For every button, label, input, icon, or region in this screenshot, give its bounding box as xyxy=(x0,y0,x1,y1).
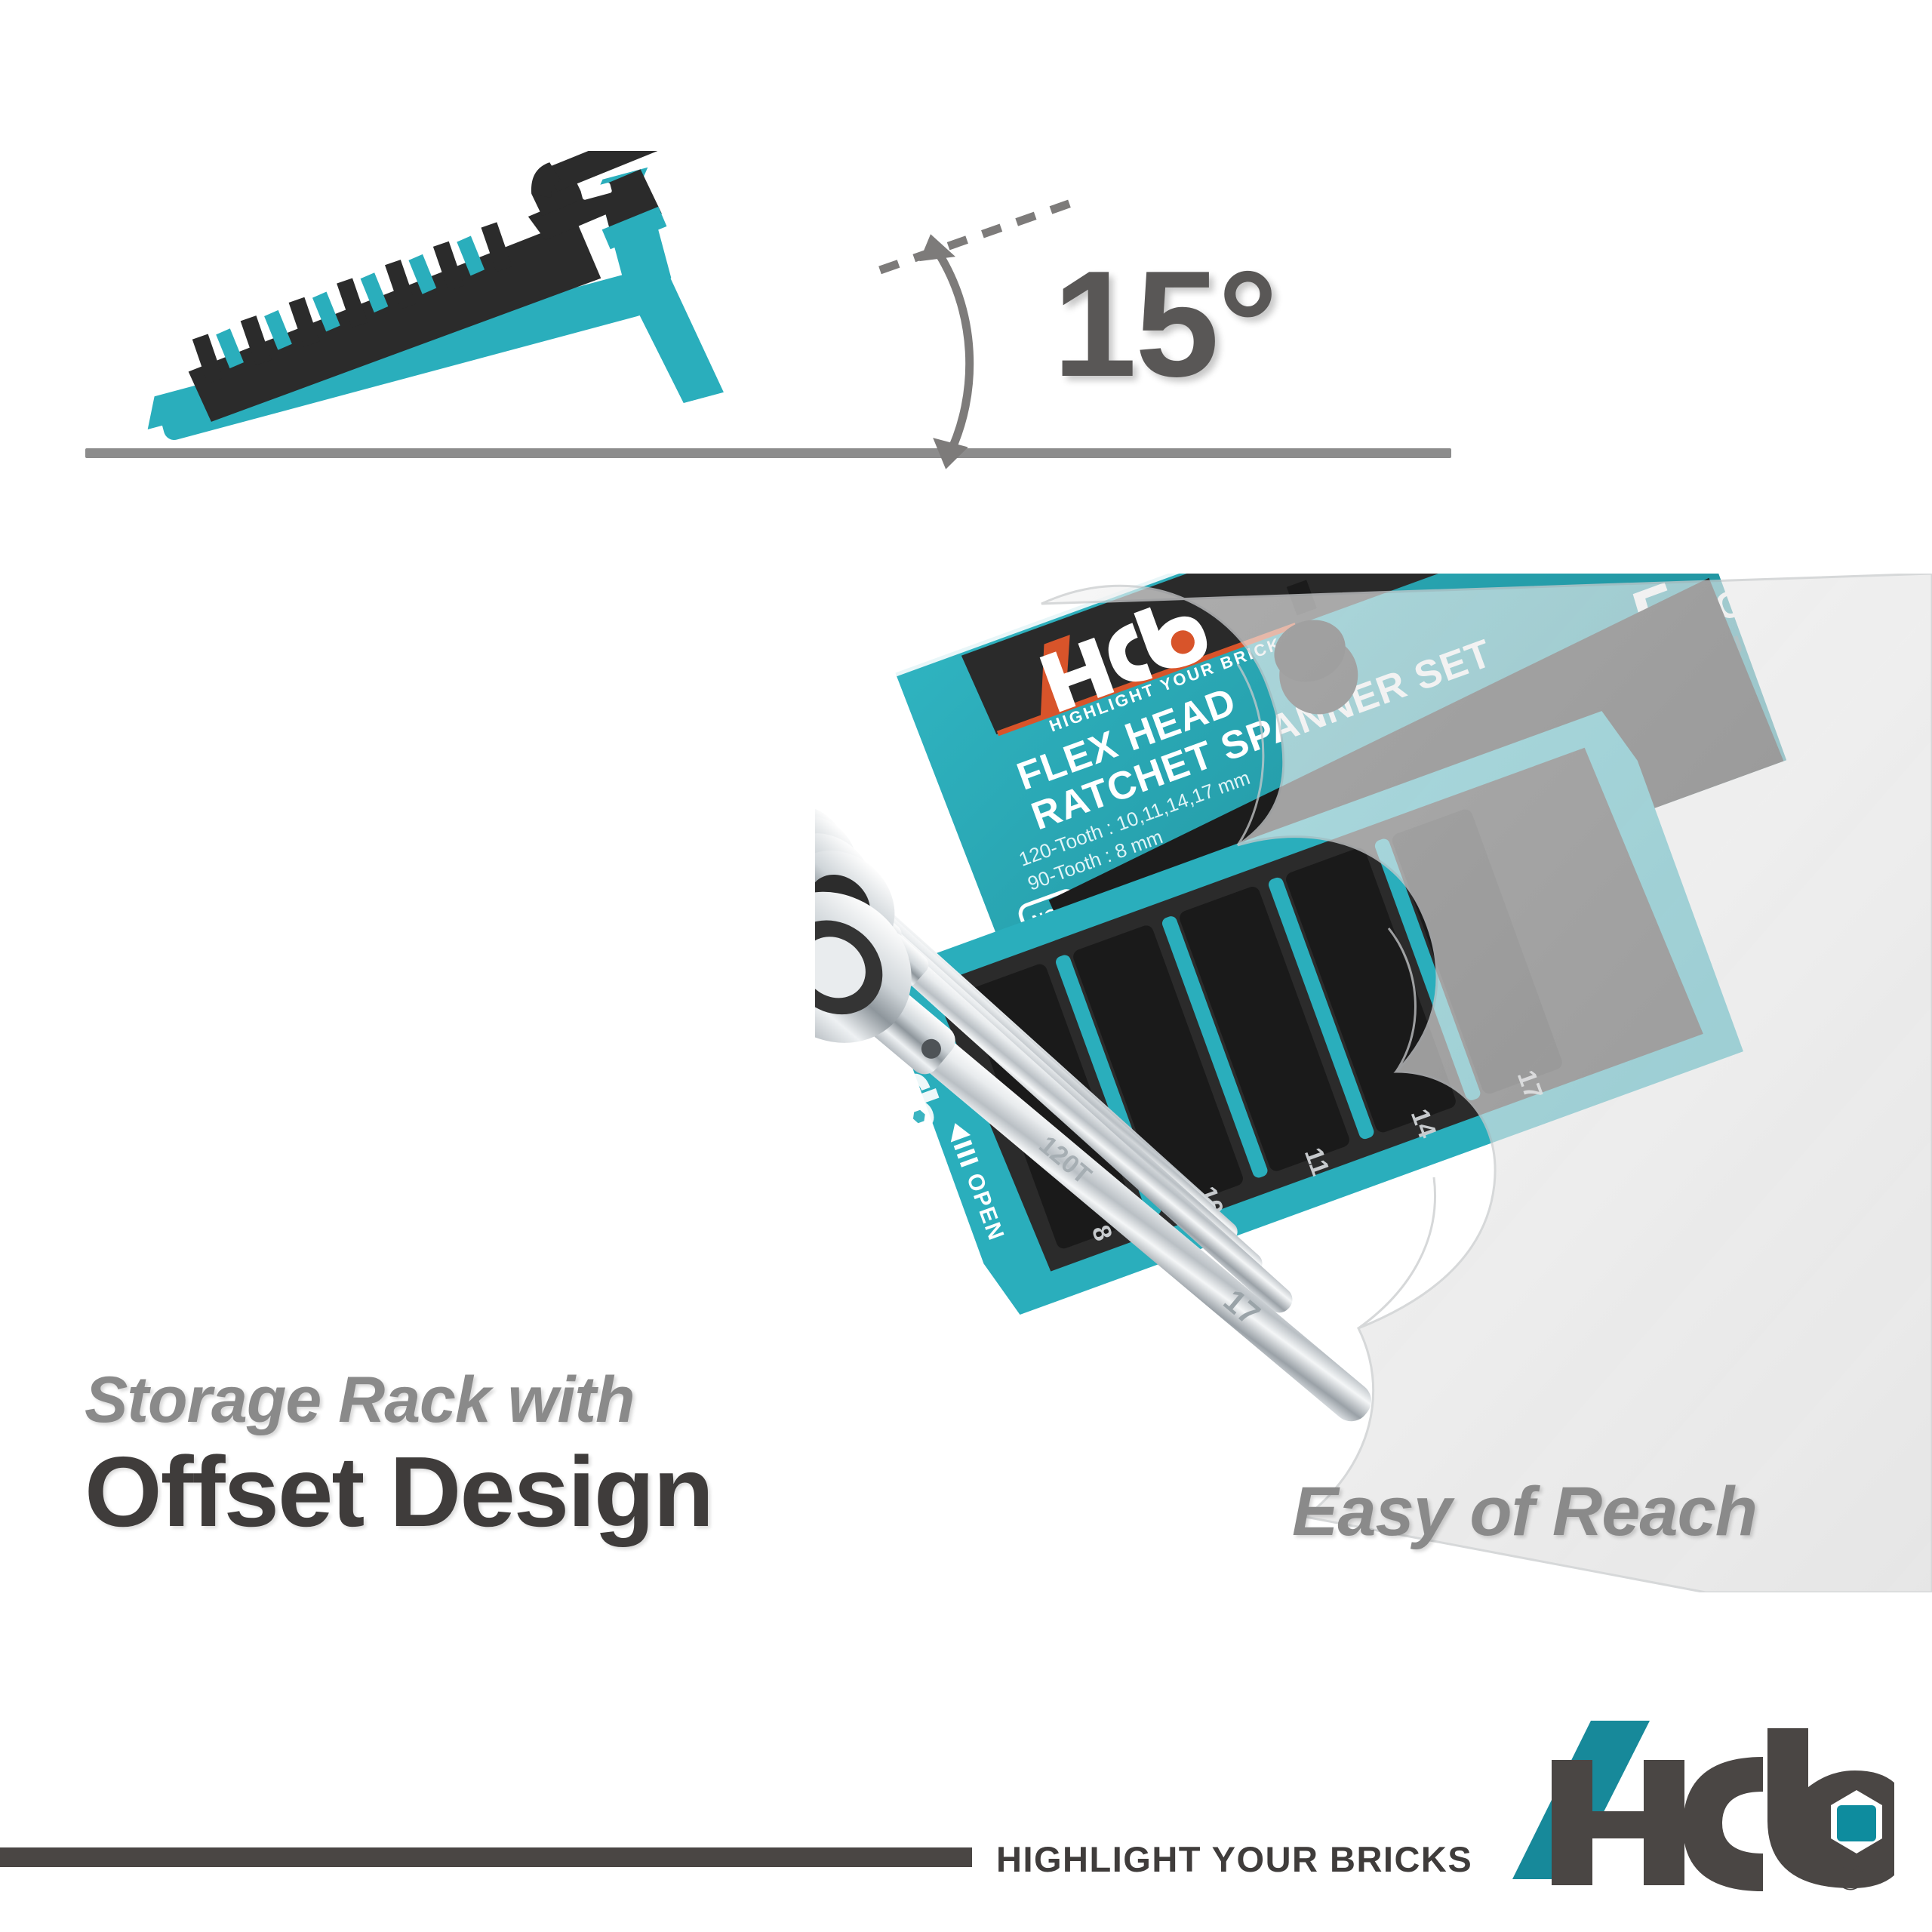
footer-tagline: HIGHLIGHT YOUR BRICKS xyxy=(996,1838,1472,1880)
angle-diagram: 15° xyxy=(0,0,1509,483)
registered-trademark-icon: ® xyxy=(1835,1855,1866,1900)
storage-rack-side-view-icon xyxy=(106,151,860,453)
marketing-banner: 15° xyxy=(0,0,1932,1932)
caption-right-text: Easy of Reach xyxy=(1292,1475,1896,1549)
caption-left-main: Offset Design xyxy=(85,1440,915,1545)
caption-left: Storage Rack with Offset Design xyxy=(85,1366,915,1545)
caption-left-sub: Storage Rack with xyxy=(85,1366,915,1434)
product-photo: HIGHLIGHT YOUR BRICKS FLEX HEAD RATCHET … xyxy=(815,574,1932,1592)
footer-divider xyxy=(0,1847,972,1867)
caption-right: Easy of Reach xyxy=(1292,1475,1896,1549)
double-arrow-arc-icon xyxy=(906,226,1026,475)
angle-value-label: 15° xyxy=(1053,249,1276,400)
footer: HIGHLIGHT YOUR BRICKS ® xyxy=(0,1811,1932,1932)
